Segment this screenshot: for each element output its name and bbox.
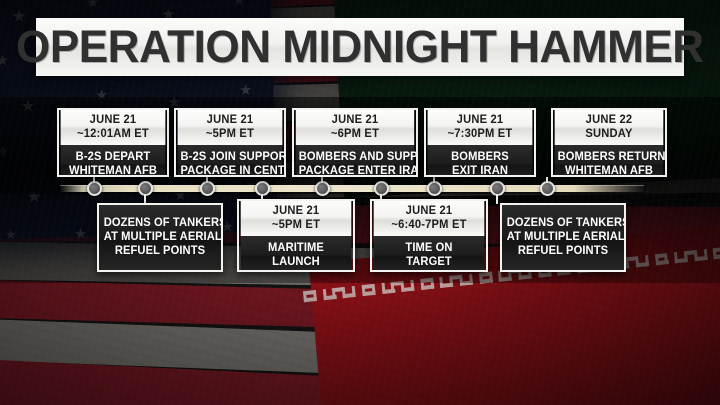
top-event-card-4: JUNE 22SUNDAYBOMBERS RETURNWHITEMAN AFB [551, 108, 667, 177]
event-date: JUNE 21 [430, 114, 531, 128]
event-description-line: REFUEL POINTS [104, 244, 217, 258]
bottom-event-card-0-body: DOZENS OF TANKERSAT MULTIPLE AERIALREFUE… [101, 211, 219, 264]
event-time: ~5PM ET [180, 128, 281, 142]
event-description-line: PACKAGE IN CENTCOM [181, 164, 280, 177]
timeline-connector-stem [93, 177, 95, 183]
timeline-node [315, 181, 330, 196]
event-description-line: BOMBERS [431, 150, 530, 164]
top-event-card-2: JUNE 21~6PM ETBOMBERS AND SUPPORTPACKAGE… [292, 108, 418, 177]
bottom-event-card-2-body: TIME ONTARGET [374, 236, 485, 272]
event-time: ~12:01AM ET [63, 128, 164, 142]
bottom-event-card-3-body: DOZENS OF TANKERSAT MULTIPLE AERIALREFUE… [504, 211, 622, 264]
top-event-card-1-body: B-2S JOIN SUPPORTPACKAGE IN CENTCOM [178, 145, 283, 177]
bottom-event-card-2-header: JUNE 21~6:40-7PM ET [374, 201, 485, 236]
bottom-event-card-1: JUNE 21~5PM ETMARITIMELAUNCH [237, 199, 355, 272]
event-description-line: TIME ON [377, 241, 482, 255]
event-date: JUNE 21 [243, 205, 350, 219]
event-description-line: MARITIME [244, 241, 349, 255]
bottom-event-card-3: DOZENS OF TANKERSAT MULTIPLE AERIALREFUE… [500, 203, 626, 272]
page-title: OPERATION MIDNIGHT HAMMER [16, 21, 704, 73]
event-description-line: B-2S DEPART [64, 150, 163, 164]
top-event-card-3-header: JUNE 21~7:30PM ET [428, 110, 533, 145]
event-date: JUNE 21 [298, 114, 412, 128]
top-event-card-1: JUNE 21~5PM ETB-2S JOIN SUPPORTPACKAGE I… [174, 108, 286, 177]
bottom-event-card-1-header: JUNE 21~5PM ET [241, 201, 352, 236]
top-event-card-4-body: BOMBERS RETURNWHITEMAN AFB [555, 145, 664, 177]
event-description-line: WHITEMAN AFB [64, 164, 163, 177]
event-date: JUNE 22 [557, 114, 662, 128]
event-description-line: DOZENS OF TANKERS [507, 216, 620, 230]
event-description-line: PACKAGE ENTER IRAN [299, 164, 412, 177]
timeline-node [540, 181, 555, 196]
title-banner: OPERATION MIDNIGHT HAMMER [36, 18, 684, 76]
top-event-card-0-body: B-2S DEPARTWHITEMAN AFB [61, 145, 166, 177]
event-date: JUNE 21 [63, 114, 164, 128]
top-event-card-0: JUNE 21~12:01AM ETB-2S DEPARTWHITEMAN AF… [57, 108, 169, 177]
event-description-line: BOMBERS RETURN [558, 150, 661, 164]
top-event-card-3-body: BOMBERSEXIT IRAN [428, 145, 533, 177]
event-time: ~7:30PM ET [430, 128, 531, 142]
timeline-node [427, 181, 442, 196]
top-event-card-1-header: JUNE 21~5PM ET [178, 110, 283, 145]
event-time: SUNDAY [557, 128, 662, 142]
bottom-event-card-0: DOZENS OF TANKERSAT MULTIPLE AERIALREFUE… [97, 203, 223, 272]
timeline-connector-stem [206, 177, 208, 183]
event-time: ~5PM ET [243, 219, 350, 233]
top-event-card-4-header: JUNE 22SUNDAY [555, 110, 664, 145]
event-description-line: EXIT IRAN [431, 164, 530, 177]
event-time: ~6:40-7PM ET [376, 219, 483, 233]
top-event-card-2-header: JUNE 21~6PM ET [296, 110, 414, 145]
timeline-connector-stem [321, 177, 323, 183]
event-description-line: BOMBERS AND SUPPORT [299, 150, 412, 164]
timeline-connector-stem [496, 194, 498, 204]
top-event-card-2-body: BOMBERS AND SUPPORTPACKAGE ENTER IRAN [296, 145, 414, 177]
event-description-line: AT MULTIPLE AERIAL [104, 230, 217, 244]
event-time: ~6PM ET [298, 128, 412, 142]
timeline-connector-stem [433, 177, 435, 183]
top-event-card-0-header: JUNE 21~12:01AM ET [61, 110, 166, 145]
event-description-line: DOZENS OF TANKERS [104, 216, 217, 230]
bottom-event-card-1-body: MARITIMELAUNCH [241, 236, 352, 272]
timeline-node [87, 181, 102, 196]
event-description-line: AT MULTIPLE AERIAL [507, 230, 620, 244]
timeline-node [200, 181, 215, 196]
top-event-card-3: JUNE 21~7:30PM ETBOMBERSEXIT IRAN [424, 108, 536, 177]
event-date: JUNE 21 [180, 114, 281, 128]
event-description-line: LAUNCH [244, 255, 349, 269]
event-description-line: B-2S JOIN SUPPORT [181, 150, 280, 164]
bottom-event-card-2: JUNE 21~6:40-7PM ETTIME ONTARGET [370, 199, 488, 272]
event-description-line: TARGET [377, 255, 482, 269]
event-date: JUNE 21 [376, 205, 483, 219]
event-description-line: REFUEL POINTS [507, 244, 620, 258]
timeline-connector-stem [546, 177, 548, 183]
event-description-line: WHITEMAN AFB [558, 164, 661, 177]
